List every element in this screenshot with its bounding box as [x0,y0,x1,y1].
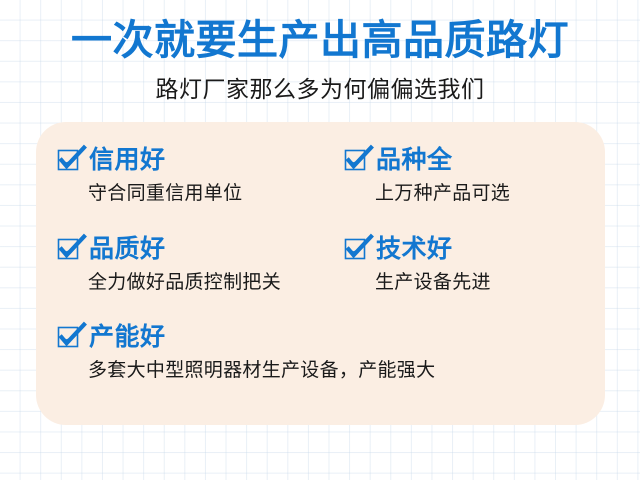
feature-description: 多套大中型照明器材生产设备，产能强大 [88,358,435,384]
feature-item: 信用好 守合同重信用单位 [58,145,242,207]
promo-poster: 一次就要生产出高品质路灯 路灯厂家那么多为何偏偏选我们 信用好 守合同重信用单位 [0,0,640,480]
checkbox-checked-icon [58,149,80,171]
features-card: 信用好 守合同重信用单位 品种全 上万种产品可选 [36,122,605,425]
feature-item: 品质好 全力做好品质控制把关 [58,234,281,296]
feature-heading: 品质好 [58,234,281,264]
feature-heading: 品种全 [345,145,510,175]
feature-description: 上万种产品可选 [375,181,510,207]
checkbox-checked-icon [58,238,80,260]
feature-heading: 信用好 [58,145,242,175]
checkbox-checked-icon [58,326,80,348]
feature-item: 品种全 上万种产品可选 [345,145,510,207]
feature-item: 技术好 生产设备先进 [345,234,491,296]
checkbox-checked-icon [345,238,367,260]
feature-item: 产能好 多套大中型照明器材生产设备，产能强大 [58,322,435,384]
feature-heading: 产能好 [58,322,435,352]
feature-title: 产能好 [89,323,166,351]
feature-title: 信用好 [89,146,166,174]
feature-title: 品质好 [89,235,166,263]
feature-description: 生产设备先进 [375,270,491,296]
page-title: 一次就要生产出高品质路灯 [0,16,640,64]
feature-description: 全力做好品质控制把关 [88,270,281,296]
page-subtitle: 路灯厂家那么多为何偏偏选我们 [0,73,640,105]
feature-title: 技术好 [376,235,453,263]
feature-title: 品种全 [376,146,453,174]
feature-heading: 技术好 [345,234,491,264]
checkbox-checked-icon [345,149,367,171]
feature-description: 守合同重信用单位 [88,181,242,207]
features-grid: 信用好 守合同重信用单位 品种全 上万种产品可选 [36,122,605,425]
